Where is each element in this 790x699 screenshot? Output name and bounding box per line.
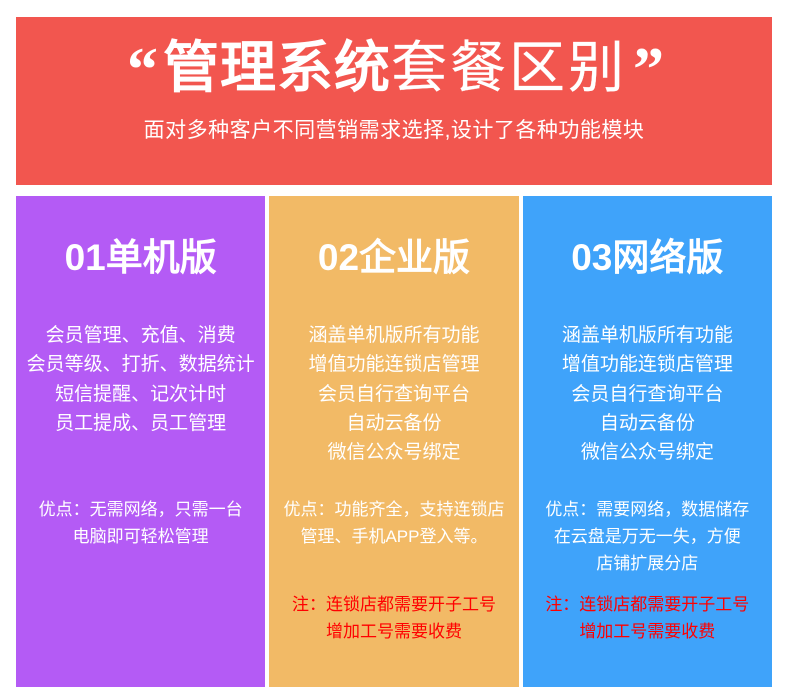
plan-feature: 会员自行查询平台 (318, 380, 470, 409)
close-quote-icon: ” (633, 41, 661, 100)
plan-feature: 会员自行查询平台 (571, 380, 723, 409)
plan-feature: 增值功能连锁店管理 (308, 350, 479, 379)
plan-advantage-line: 优点：需要网络，数据储存 (545, 496, 749, 523)
plan-feature: 涵盖单机版所有功能 (308, 321, 479, 350)
pricing-comparison-infographic: “ 管理系统 套餐区别 ” 面对多种客户不同营销需求选择,设计了各种功能模块 0… (0, 0, 790, 699)
plan-feature-list-02: 涵盖单机版所有功能 增值功能连锁店管理 会员自行查询平台 自动云备份 微信公众号… (269, 321, 518, 468)
plan-feature-list-03: 涵盖单机版所有功能 增值功能连锁店管理 会员自行查询平台 自动云备份 微信公众号… (523, 321, 772, 468)
plan-note-line: 增加工号需要收费 (326, 618, 462, 645)
plan-advantage-line: 优点：功能齐全，支持连锁店 (283, 496, 504, 523)
plan-advantage-02: 优点：功能齐全，支持连锁店 管理、手机APP登入等。 (269, 496, 518, 550)
banner-title: “ 管理系统 套餐区别 ” (127, 39, 661, 98)
plan-feature: 微信公众号绑定 (581, 438, 714, 467)
plan-feature: 会员等级、打折、数据统计 (27, 350, 255, 379)
plan-feature: 增值功能连锁店管理 (562, 350, 733, 379)
banner-title-bold: 管理系统 (163, 39, 391, 96)
plan-note-03: 注：连锁店都需要开子工号 增加工号需要收费 (523, 591, 772, 645)
banner-subtitle: 面对多种客户不同营销需求选择,设计了各种功能模块 (144, 114, 645, 144)
plan-advantage-line: 店铺扩展分店 (596, 550, 698, 577)
plan-note-line: 注：连锁店都需要开子工号 (292, 591, 496, 618)
plan-columns: 01单机版 会员管理、充值、消费 会员等级、打折、数据统计 短信提醒、记次计时 … (16, 196, 772, 687)
banner-title-light: 套餐区别 (391, 39, 627, 96)
open-quote-icon: “ (127, 41, 155, 100)
plan-note-02: 注：连锁店都需要开子工号 增加工号需要收费 (269, 591, 518, 645)
plan-feature: 涵盖单机版所有功能 (562, 321, 733, 350)
plan-advantage-01: 优点：无需网络，只需一台 电脑即可轻松管理 (16, 496, 265, 550)
plan-heading-03: 03网络版 (571, 238, 723, 279)
plan-card-03[interactable]: 03网络版 涵盖单机版所有功能 增值功能连锁店管理 会员自行查询平台 自动云备份… (523, 196, 772, 687)
plan-advantage-line: 管理、手机APP登入等。 (300, 523, 487, 550)
plan-feature: 自动云备份 (600, 409, 695, 438)
plan-advantage-line: 电脑即可轻松管理 (73, 523, 209, 550)
plan-advantage-03: 优点：需要网络，数据储存 在云盘是万无一失，方便 店铺扩展分店 (523, 496, 772, 578)
plan-advantage-line: 优点：无需网络，只需一台 (39, 496, 243, 523)
plan-feature: 自动云备份 (346, 409, 441, 438)
plan-feature: 会员管理、充值、消费 (46, 321, 236, 350)
plan-feature: 短信提醒、记次计时 (55, 380, 226, 409)
plan-feature: 微信公众号绑定 (327, 438, 460, 467)
plan-feature: 员工提成、员工管理 (55, 409, 226, 438)
plan-card-02[interactable]: 02企业版 涵盖单机版所有功能 增值功能连锁店管理 会员自行查询平台 自动云备份… (269, 196, 518, 687)
plan-note-line: 增加工号需要收费 (579, 618, 715, 645)
plan-heading-02: 02企业版 (318, 238, 470, 279)
plan-note-line: 注：连锁店都需要开子工号 (545, 591, 749, 618)
plan-feature-list-01: 会员管理、充值、消费 会员等级、打折、数据统计 短信提醒、记次计时 员工提成、员… (16, 321, 265, 439)
plan-advantage-line: 在云盘是万无一失，方便 (554, 523, 741, 550)
header-banner: “ 管理系统 套餐区别 ” 面对多种客户不同营销需求选择,设计了各种功能模块 (16, 17, 772, 185)
plan-card-01[interactable]: 01单机版 会员管理、充值、消费 会员等级、打折、数据统计 短信提醒、记次计时 … (16, 196, 265, 687)
plan-heading-01: 01单机版 (65, 238, 217, 279)
